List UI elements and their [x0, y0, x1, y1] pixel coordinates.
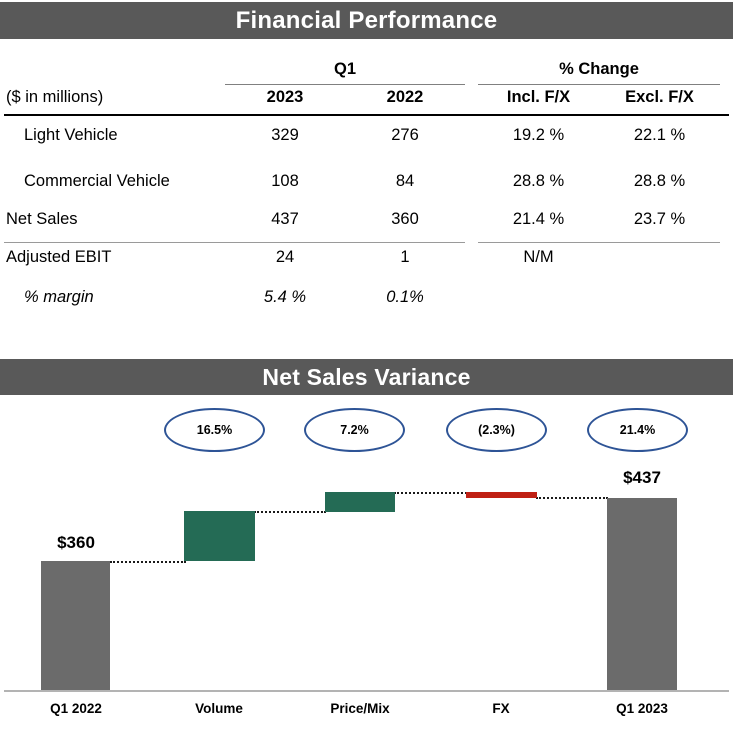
table-row: Adjusted EBIT 24 1 N/M [0, 248, 733, 280]
row-value-2023: 5.4 % [225, 288, 345, 307]
connector-q1-2022-to-volume [110, 561, 186, 563]
bar-price-mix [325, 492, 395, 512]
header-bottom-rule [4, 114, 729, 116]
row-label: Adjusted EBIT [6, 248, 111, 267]
table-row: Net Sales 437 360 21.4 % 23.7 % [0, 210, 733, 242]
column-header-2022: 2022 [345, 88, 465, 107]
net-sales-variance-title: Net Sales Variance [0, 359, 733, 395]
chart-axis-line [4, 690, 729, 692]
subtotal-rule-left [4, 242, 465, 243]
units-label: ($ in millions) [6, 88, 103, 107]
row-value-2023: 108 [225, 172, 345, 191]
connector-volume-to-price-mix [254, 511, 326, 513]
row-value-2022: 0.1% [345, 288, 465, 307]
row-label: Light Vehicle [24, 126, 118, 145]
connector-fx-to-q1-2023 [536, 497, 608, 499]
column-group-header-period: Q1 [225, 60, 465, 79]
table-row: % margin 5.4 % 0.1% [0, 288, 733, 320]
row-value-2022: 360 [345, 210, 465, 229]
financial-performance-title: Financial Performance [0, 2, 733, 39]
column-header-excl-fx: Excl. F/X [599, 88, 720, 107]
bar-q1-2023 [607, 498, 677, 690]
callout-fx-percent: (2.3%) [446, 408, 547, 452]
row-value-2022: 1 [345, 248, 465, 267]
axis-label-q1-2023: Q1 2023 [601, 701, 683, 716]
row-label: Net Sales [6, 210, 78, 229]
row-value-excl-fx: 22.1 % [599, 126, 720, 145]
column-group-header-change: % Change [478, 60, 720, 79]
axis-label-q1-2022: Q1 2022 [35, 701, 117, 716]
table-row: Commercial Vehicle 108 84 28.8 % 28.8 % [0, 172, 733, 204]
row-value-incl-fx: N/M [478, 248, 599, 267]
table-row: Light Vehicle 329 276 19.2 % 22.1 % [0, 126, 733, 158]
row-value-2023: 329 [225, 126, 345, 145]
row-value-2023: 437 [225, 210, 345, 229]
row-value-2023: 24 [225, 248, 345, 267]
axis-label-volume: Volume [178, 701, 260, 716]
callout-price-mix-percent: 7.2% [304, 408, 405, 452]
bar-volume [184, 511, 255, 561]
column-header-incl-fx: Incl. F/X [478, 88, 599, 107]
row-value-incl-fx: 28.8 % [478, 172, 599, 191]
connector-price-mix-to-fx [394, 492, 467, 494]
row-label: % margin [24, 288, 94, 307]
group-rule-change [478, 84, 720, 85]
callout-volume-percent: 16.5% [164, 408, 265, 452]
financial-performance-table: Q1 % Change ($ in millions) 2023 2022 In… [0, 46, 733, 316]
axis-label-price-mix: Price/Mix [319, 701, 401, 716]
row-value-excl-fx: 23.7 % [599, 210, 720, 229]
row-label: Commercial Vehicle [24, 172, 170, 191]
column-header-2023: 2023 [225, 88, 345, 107]
callout-total-percent: 21.4% [587, 408, 688, 452]
axis-label-fx: FX [460, 701, 542, 716]
row-value-incl-fx: 19.2 % [478, 126, 599, 145]
bar-fx [466, 492, 537, 498]
bar-value-q1-2023: $437 [602, 468, 682, 488]
net-sales-variance-waterfall-chart: 16.5% 7.2% (2.3%) 21.4% $360 $437 Q1 202… [0, 395, 733, 731]
group-rule-period [225, 84, 465, 85]
subtotal-rule-right [478, 242, 720, 243]
bar-q1-2022 [41, 561, 110, 690]
row-value-excl-fx: 28.8 % [599, 172, 720, 191]
row-value-2022: 84 [345, 172, 465, 191]
bar-value-q1-2022: $360 [36, 533, 116, 553]
row-value-incl-fx: 21.4 % [478, 210, 599, 229]
row-value-2022: 276 [345, 126, 465, 145]
